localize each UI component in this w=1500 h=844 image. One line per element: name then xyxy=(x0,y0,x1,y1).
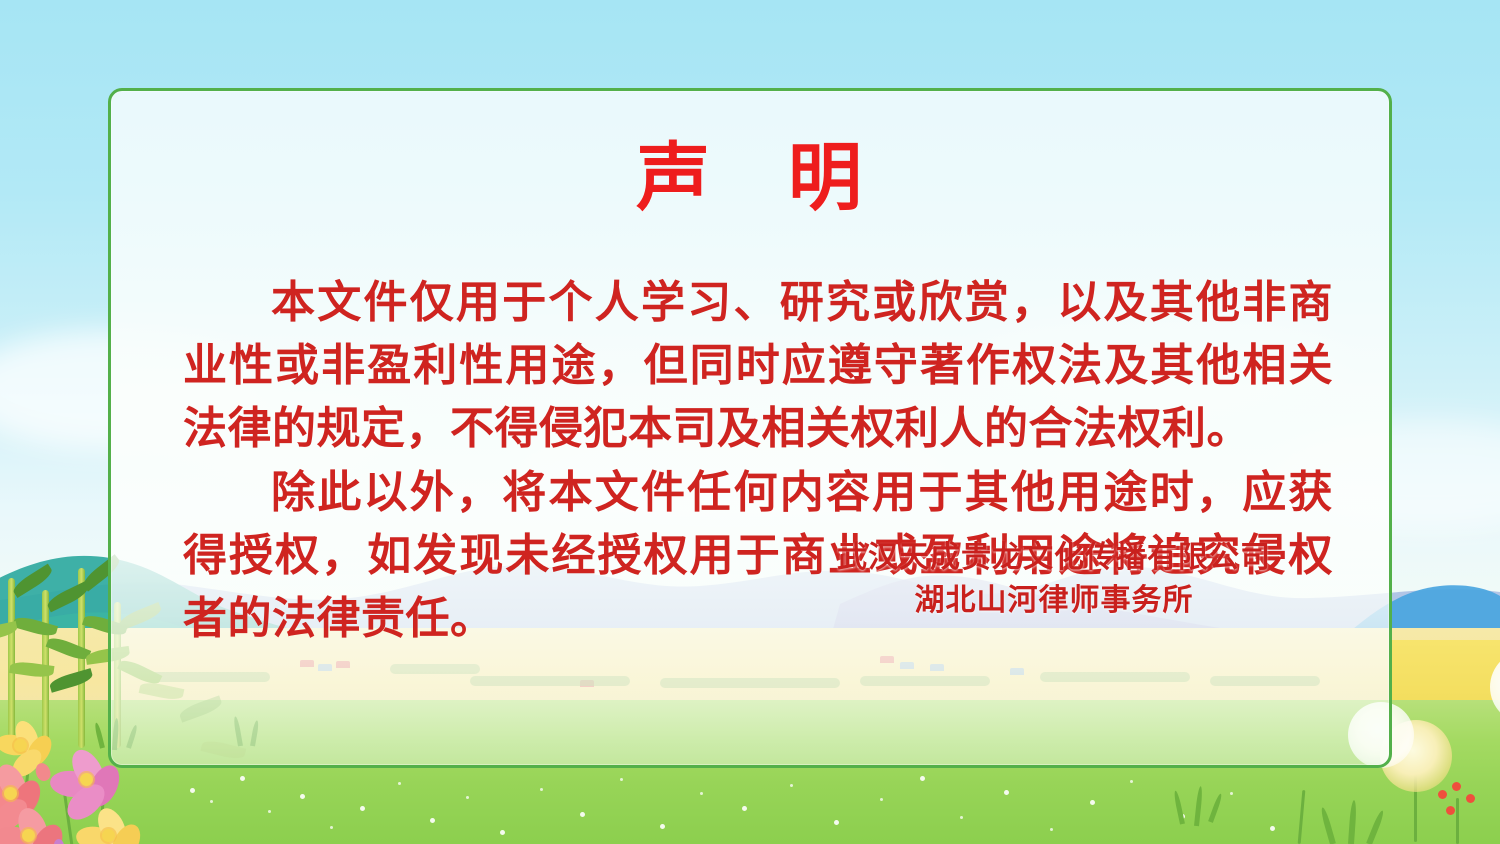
page-title: 声 明 xyxy=(111,141,1389,215)
slide-canvas: 声 明 本文件仅用于个人学习、研究或欣赏，以及其他非商业性或非盈利性用途，但同时… xyxy=(0,0,1500,844)
signature-block: 武汉天成贵龙文化传播有限公司 湖北山河律师事务所 xyxy=(794,536,1314,622)
signature-law-firm: 湖北山河律师事务所 xyxy=(794,579,1314,622)
statement-paragraph-1: 本文件仅用于个人学习、研究或欣赏，以及其他非商业性或非盈利性用途，但同时应遵守著… xyxy=(183,271,1333,460)
signature-company: 武汉天成贵龙文化传播有限公司 xyxy=(794,536,1314,579)
statement-panel: 声 明 本文件仅用于个人学习、研究或欣赏，以及其他非商业性或非盈利性用途，但同时… xyxy=(108,88,1392,768)
